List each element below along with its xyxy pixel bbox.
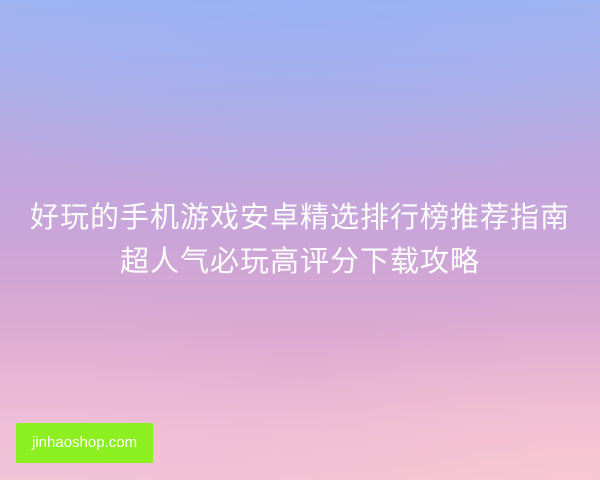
gradient-banner: 好玩的手机游戏安卓精选排行榜推荐指南 超人气必玩高评分下载攻略 jinhaosh…	[0, 0, 600, 480]
banner-title-line-1: 好玩的手机游戏安卓精选排行榜推荐指南	[0, 196, 600, 240]
banner-title-line-2: 超人气必玩高评分下载攻略	[0, 240, 600, 284]
watermark-badge: jinhaoshop.com	[16, 423, 153, 463]
banner-title-block: 好玩的手机游戏安卓精选排行榜推荐指南 超人气必玩高评分下载攻略	[0, 196, 600, 284]
